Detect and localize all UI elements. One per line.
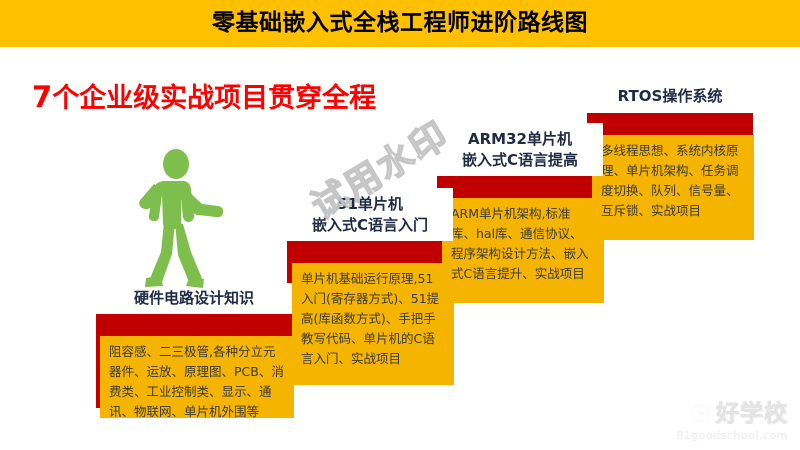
- step-title-2-line-2: 嵌入式C语言入门: [312, 215, 428, 236]
- step-title-2: 51单片机 嵌入式C语言入门: [287, 188, 453, 241]
- brand-url: 81goodschool.com: [676, 429, 788, 442]
- step-riser-1: [96, 314, 292, 336]
- step-riser-3: [437, 176, 603, 198]
- step-title-3: ARM32单片机 嵌入式C语言提高: [437, 123, 603, 176]
- step-body-3: ARM单片机架构,标准库、hal库、通信协议、程序架构设计方法、嵌入式C语言提升…: [451, 206, 589, 281]
- page-title: 零基础嵌入式全栈工程师进阶路线图: [0, 6, 800, 40]
- headline-number: 7: [32, 80, 52, 114]
- step-title-3-line-2: 嵌入式C语言提高: [462, 150, 578, 171]
- step-body-1: 阻容感、二三极管,各种分立元器件、运放、原理图、PCB、消费类、工业控制类、显示…: [109, 344, 284, 419]
- step-title-2-line-1: 51单片机: [337, 194, 403, 215]
- step-title-4-line-1: RTOS操作系统: [618, 86, 723, 107]
- step-box-4: 多线程思想、系统内核原理、单片机架构、任务调度切换、队列、信号量、互斥锁、实战项…: [592, 135, 754, 240]
- step-box-2: 单片机基础运行原理,51入门(寄存器方式)、51提高(库函数方式)、手把手教写代…: [292, 263, 454, 385]
- step-riser-2: [287, 241, 453, 263]
- step-body-4: 多线程思想、系统内核原理、单片机架构、任务调度切换、队列、信号量、互斥锁、实战项…: [601, 143, 739, 218]
- brand-mark-icon: ☉: [690, 402, 712, 426]
- headline-text: 个企业级实战项目贯穿全程: [52, 83, 376, 114]
- headline: 7个企业级实战项目贯穿全程: [32, 76, 376, 115]
- site-watermark: ☉ 好学校 81goodschool.com: [676, 402, 788, 442]
- step-title-1-line-1: 硬件电路设计知识: [134, 288, 254, 309]
- step-body-2: 单片机基础运行原理,51入门(寄存器方式)、51提高(库函数方式)、手把手教写代…: [301, 271, 439, 366]
- slide-canvas: 零基础嵌入式全栈工程师进阶路线图 7个企业级实战项目贯穿全程 硬件电路设计知识 …: [0, 0, 800, 450]
- walking-person-icon: [128, 148, 224, 290]
- brand-name: 好学校: [716, 403, 788, 426]
- step-box-1: 阻容感、二三极管,各种分立元器件、运放、原理图、PCB、消费类、工业控制类、显示…: [100, 336, 294, 418]
- step-riser-4: [587, 113, 753, 135]
- step-box-3: ARM单片机架构,标准库、hal库、通信协议、程序架构设计方法、嵌入式C语言提升…: [442, 198, 604, 303]
- step-title-3-line-1: ARM32单片机: [468, 129, 572, 150]
- step-title-4: RTOS操作系统: [587, 80, 753, 113]
